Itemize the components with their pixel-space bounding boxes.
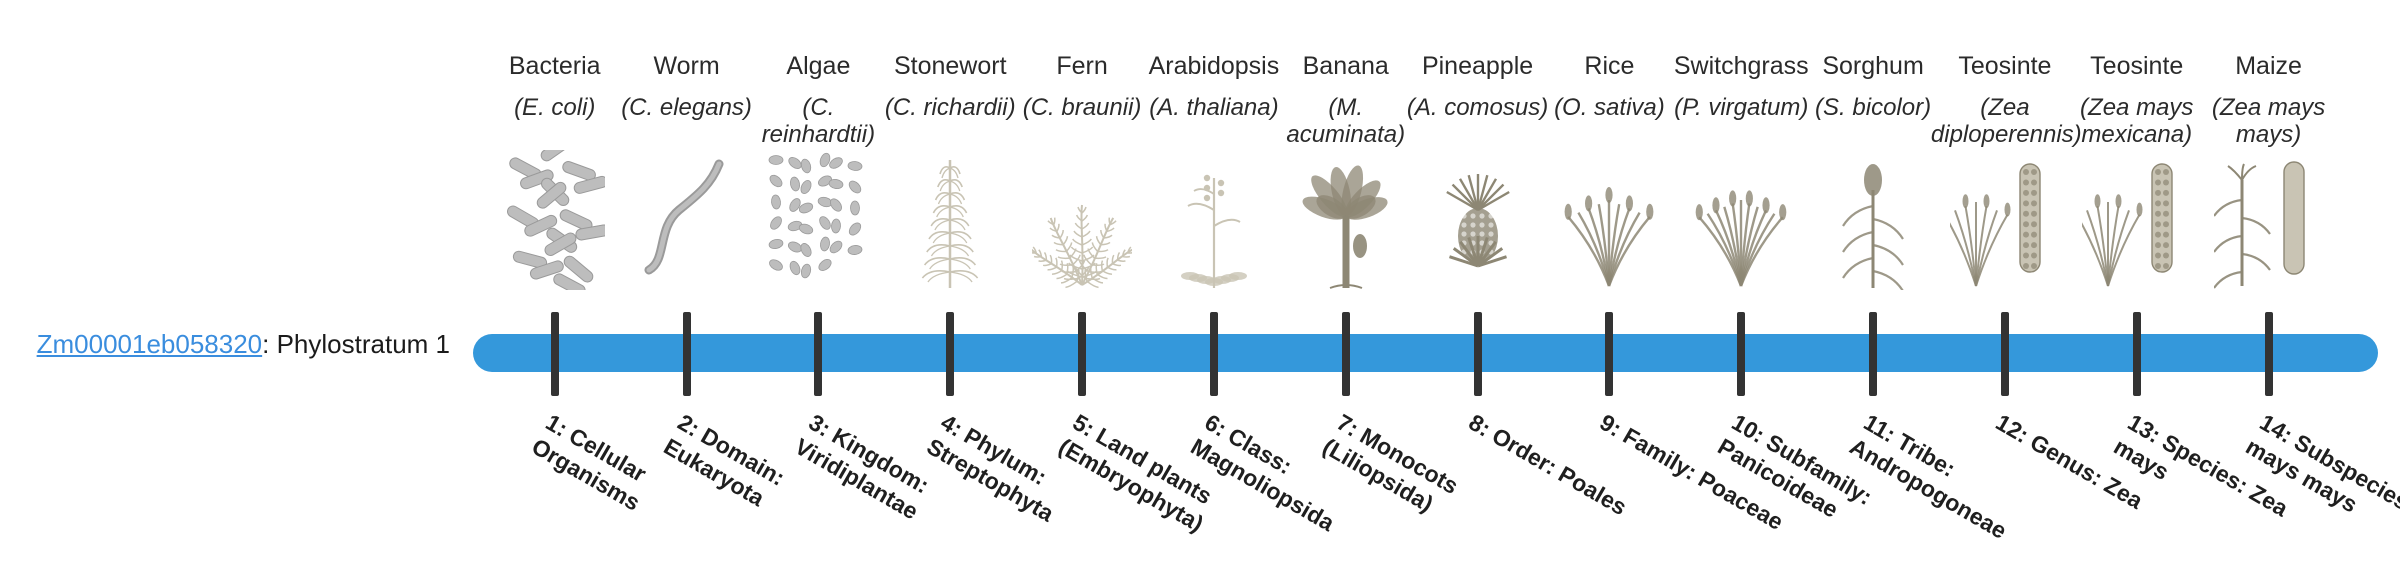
species-column: Bacteria(E. coli)1: Cellular Organisms xyxy=(487,0,623,580)
switchgrass-icon xyxy=(1673,160,1809,290)
timeline-tick xyxy=(1210,312,1218,396)
species-latin-name: (C. elegans) xyxy=(613,95,761,122)
timeline-tick xyxy=(1605,312,1613,396)
species-latin-name: (M. acuminata) xyxy=(1272,95,1420,149)
species-column: Rice(O. sativa)9: Family: Poaceae xyxy=(1541,0,1677,580)
species-common-name: Teosinte xyxy=(2069,52,2205,81)
stonewort-icon xyxy=(882,160,1018,290)
timeline-tick xyxy=(2265,312,2273,396)
timeline-tick xyxy=(1078,312,1086,396)
nematode-worm-icon xyxy=(619,160,755,290)
species-common-name: Stonewort xyxy=(882,52,1018,81)
pineapple-icon xyxy=(1410,160,1546,290)
species-common-name: Bacteria xyxy=(487,52,623,81)
species-common-name: Sorghum xyxy=(1805,52,1941,81)
species-latin-name: (Zea mays mays) xyxy=(2195,95,2343,149)
species-common-name: Algae xyxy=(750,52,886,81)
species-common-name: Pineapple xyxy=(1410,52,1546,81)
teosinte-plant-and-ear-icon xyxy=(2069,160,2205,290)
species-column: Algae(C. reinhardtii)3: Kingdom: Viridip… xyxy=(750,0,886,580)
timeline-tick xyxy=(1474,312,1482,396)
timeline-tick xyxy=(1342,312,1350,396)
timeline-tick xyxy=(1737,312,1745,396)
species-latin-name: (C. richardii) xyxy=(876,95,1024,122)
species-latin-name: (C. braunii) xyxy=(1008,95,1156,122)
species-latin-name: (Zea mays mexicana) xyxy=(2063,95,2211,149)
species-column: Maize(Zea mays mays)14: Subspecies: Zea … xyxy=(2201,0,2337,580)
taxonomic-rank-label: 14: Subspecies: Zea mays mays xyxy=(2241,408,2400,572)
fern-icon xyxy=(1014,160,1150,290)
phylostratigraphy-figure: Zm00001eb058320: Phylostratum 1 Bacteria… xyxy=(0,0,2400,580)
species-latin-name: (E. coli) xyxy=(481,95,629,122)
species-column: Worm(C. elegans)2: Domain: Eukaryota xyxy=(619,0,755,580)
species-latin-name: (Zea diploperennis) xyxy=(1931,95,2079,149)
species-common-name: Banana xyxy=(1278,52,1414,81)
teosinte-plant-and-ear-icon xyxy=(1937,160,2073,290)
species-latin-name: (A. thaliana) xyxy=(1140,95,1288,122)
gene-id-link[interactable]: Zm00001eb058320 xyxy=(37,329,263,359)
species-common-name: Teosinte xyxy=(1937,52,2073,81)
species-latin-name: (P. virgatum) xyxy=(1667,95,1815,122)
species-common-name: Switchgrass xyxy=(1673,52,1809,81)
timeline-tick xyxy=(1869,312,1877,396)
species-common-name: Worm xyxy=(619,52,755,81)
species-common-name: Fern xyxy=(1014,52,1150,81)
arabidopsis-icon xyxy=(1146,160,1282,290)
species-column: Arabidopsis(A. thaliana)6: Class: Magnol… xyxy=(1146,0,1282,580)
rice-plant-icon xyxy=(1541,160,1677,290)
algae-cells-icon xyxy=(750,160,886,290)
timeline-tick xyxy=(551,312,559,396)
species-column: Fern(C. braunii)5: Land plants (Embryoph… xyxy=(1014,0,1150,580)
bacteria-rods-icon xyxy=(487,160,623,290)
species-common-name: Rice xyxy=(1541,52,1677,81)
species-common-name: Maize xyxy=(2201,52,2337,81)
species-columns: Bacteria(E. coli)1: Cellular OrganismsWo… xyxy=(473,0,2378,580)
species-latin-name: (O. sativa) xyxy=(1535,95,1683,122)
species-latin-name: (A. comosus) xyxy=(1404,95,1552,122)
timeline-tick xyxy=(2133,312,2141,396)
sorghum-icon xyxy=(1805,160,1941,290)
gene-label-separator: : xyxy=(262,329,276,359)
species-latin-name: (S. bicolor) xyxy=(1799,95,1947,122)
maize-plant-and-ear-icon xyxy=(2201,160,2337,290)
species-column: Pineapple(A. comosus)8: Order: Poales xyxy=(1410,0,1546,580)
species-latin-name: (C. reinhardtii) xyxy=(744,95,892,149)
species-column: Banana(M. acuminata)7: Monocots (Liliops… xyxy=(1278,0,1414,580)
timeline-tick xyxy=(814,312,822,396)
timeline-tick xyxy=(683,312,691,396)
timeline-tick xyxy=(2001,312,2009,396)
species-column: Stonewort(C. richardii)4: Phylum: Strept… xyxy=(882,0,1018,580)
species-common-name: Arabidopsis xyxy=(1146,52,1282,81)
species-column: Teosinte(Zea mays mexicana)13: Species: … xyxy=(2069,0,2205,580)
species-column: Sorghum(S. bicolor)11: Tribe: Andropogon… xyxy=(1805,0,1941,580)
banana-plant-icon xyxy=(1278,160,1414,290)
species-column: Switchgrass(P. virgatum)10: Subfamily: P… xyxy=(1673,0,1809,580)
timeline-tick xyxy=(946,312,954,396)
phylostratum-value: Phylostratum 1 xyxy=(277,329,450,359)
gene-phylostratum-label: Zm00001eb058320: Phylostratum 1 xyxy=(0,330,450,359)
species-column: Teosinte(Zea diploperennis)12: Genus: Ze… xyxy=(1937,0,2073,580)
